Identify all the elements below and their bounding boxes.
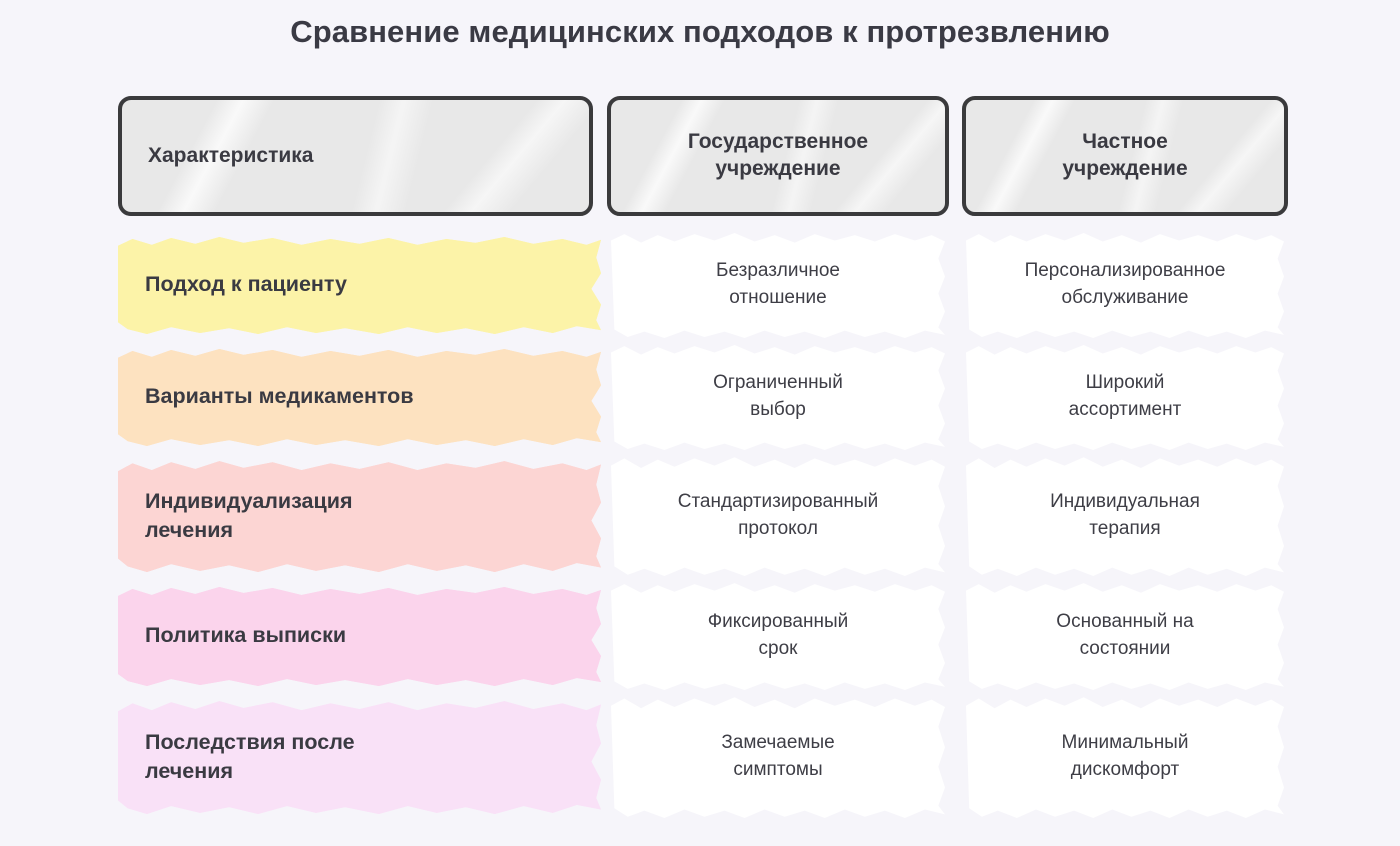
row-public-value: Стандартизированный протокол — [678, 489, 879, 543]
row-feature-cell: Политика выписки — [118, 580, 593, 692]
header-label-public: Государственное учреждение — [688, 129, 868, 183]
row-public-value: Ограниченный выбор — [713, 370, 843, 424]
header-label-private: Частное учреждение — [1062, 129, 1187, 183]
row-public-cell: Безразличное отношение — [607, 230, 949, 340]
header-cell-public: Государственное учреждение — [607, 96, 949, 216]
table-row: Последствия после лечения Замечаемые сим… — [118, 694, 1288, 820]
column-gap — [949, 342, 962, 452]
header-cell-private: Частное учреждение — [962, 96, 1288, 216]
row-public-cell: Фиксированный срок — [607, 580, 949, 692]
row-public-cell: Замечаемые симптомы — [607, 694, 949, 820]
row-public-value: Замечаемые симптомы — [721, 730, 834, 784]
table-header-row: Характеристика Государственное учреждени… — [118, 96, 1288, 216]
row-feature-cell: Подход к пациенту — [118, 230, 593, 340]
table-row: Политика выписки Фиксированный срок Осно… — [118, 580, 1288, 692]
row-private-cell: Персонализированное обслуживание — [962, 230, 1288, 340]
comparison-table: Характеристика Государственное учреждени… — [118, 96, 1288, 822]
row-public-cell: Стандартизированный протокол — [607, 454, 949, 578]
row-feature-cell: Варианты медикаментов — [118, 342, 593, 452]
row-private-value: Минимальный дискомфорт — [1062, 730, 1189, 784]
row-feature-cell: Последствия после лечения — [118, 694, 593, 820]
row-feature-label: Политика выписки — [145, 621, 346, 650]
row-private-cell: Минимальный дискомфорт — [962, 694, 1288, 820]
row-private-value: Основанный на состоянии — [1056, 609, 1193, 663]
page-title: Сравнение медицинских подходов к протрез… — [0, 14, 1400, 50]
column-gap — [949, 454, 962, 578]
row-feature-cell: Индивидуализация лечения — [118, 454, 593, 578]
comparison-table-page: Сравнение медицинских подходов к протрез… — [0, 0, 1400, 846]
table-row: Индивидуализация лечения Стандартизирова… — [118, 454, 1288, 578]
row-private-cell: Индивидуальная терапия — [962, 454, 1288, 578]
row-public-value: Фиксированный срок — [708, 609, 849, 663]
row-private-value: Индивидуальная терапия — [1050, 489, 1200, 543]
column-gap — [949, 580, 962, 692]
row-private-cell: Широкий ассортимент — [962, 342, 1288, 452]
header-label-feature: Характеристика — [148, 144, 313, 168]
column-gap — [949, 694, 962, 820]
column-gap — [949, 230, 962, 340]
row-public-value: Безразличное отношение — [716, 258, 840, 312]
row-feature-label: Индивидуализация лечения — [145, 487, 353, 545]
table-row: Подход к пациенту Безразличное отношение… — [118, 230, 1288, 340]
row-public-cell: Ограниченный выбор — [607, 342, 949, 452]
header-cell-feature: Характеристика — [118, 96, 593, 216]
table-row: Варианты медикаментов Ограниченный выбор… — [118, 342, 1288, 452]
column-gap — [593, 96, 607, 216]
row-private-cell: Основанный на состоянии — [962, 580, 1288, 692]
row-feature-label: Последствия после лечения — [145, 728, 355, 786]
column-gap — [949, 96, 962, 216]
row-private-value: Широкий ассортимент — [1069, 370, 1182, 424]
row-feature-label: Варианты медикаментов — [145, 382, 414, 411]
row-private-value: Персонализированное обслуживание — [1025, 258, 1226, 312]
row-feature-label: Подход к пациенту — [145, 270, 347, 299]
